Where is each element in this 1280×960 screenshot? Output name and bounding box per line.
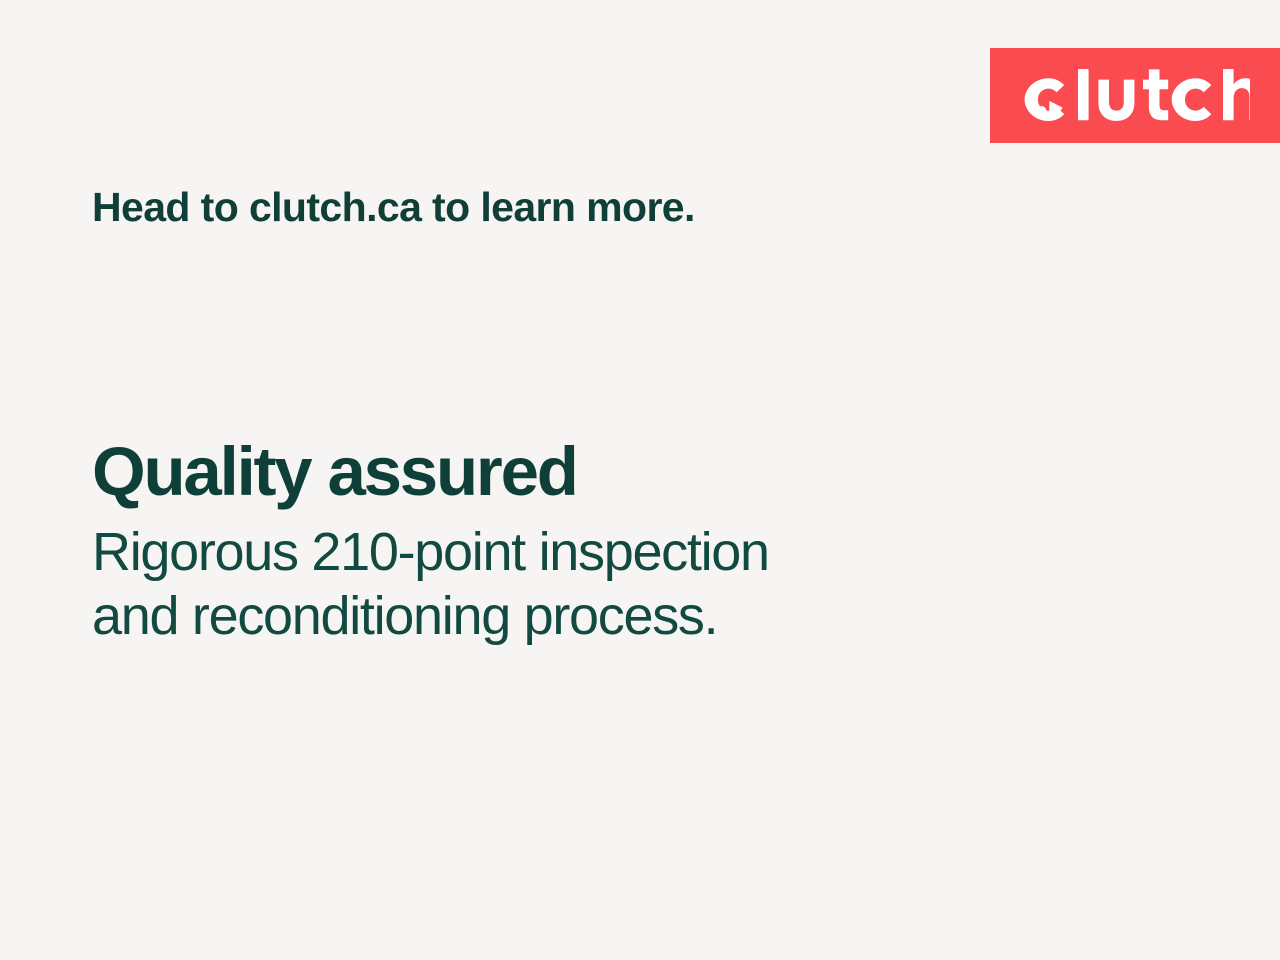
main-body-text: Rigorous 210-point inspection and recond… (92, 520, 1092, 648)
body-line-1: Rigorous 210-point inspection (92, 520, 1092, 584)
slide-canvas: Head to clutch.ca to learn more. Quality… (0, 0, 1280, 960)
clutch-wordmark-icon (1018, 65, 1250, 127)
body-line-2: and reconditioning process. (92, 584, 1092, 648)
main-content-block: Quality assured Rigorous 210-point inspe… (92, 432, 1092, 648)
clutch-logo-banner[interactable] (990, 48, 1280, 143)
main-heading: Quality assured (92, 432, 1092, 512)
lead-callout-text: Head to clutch.ca to learn more. (92, 178, 695, 236)
